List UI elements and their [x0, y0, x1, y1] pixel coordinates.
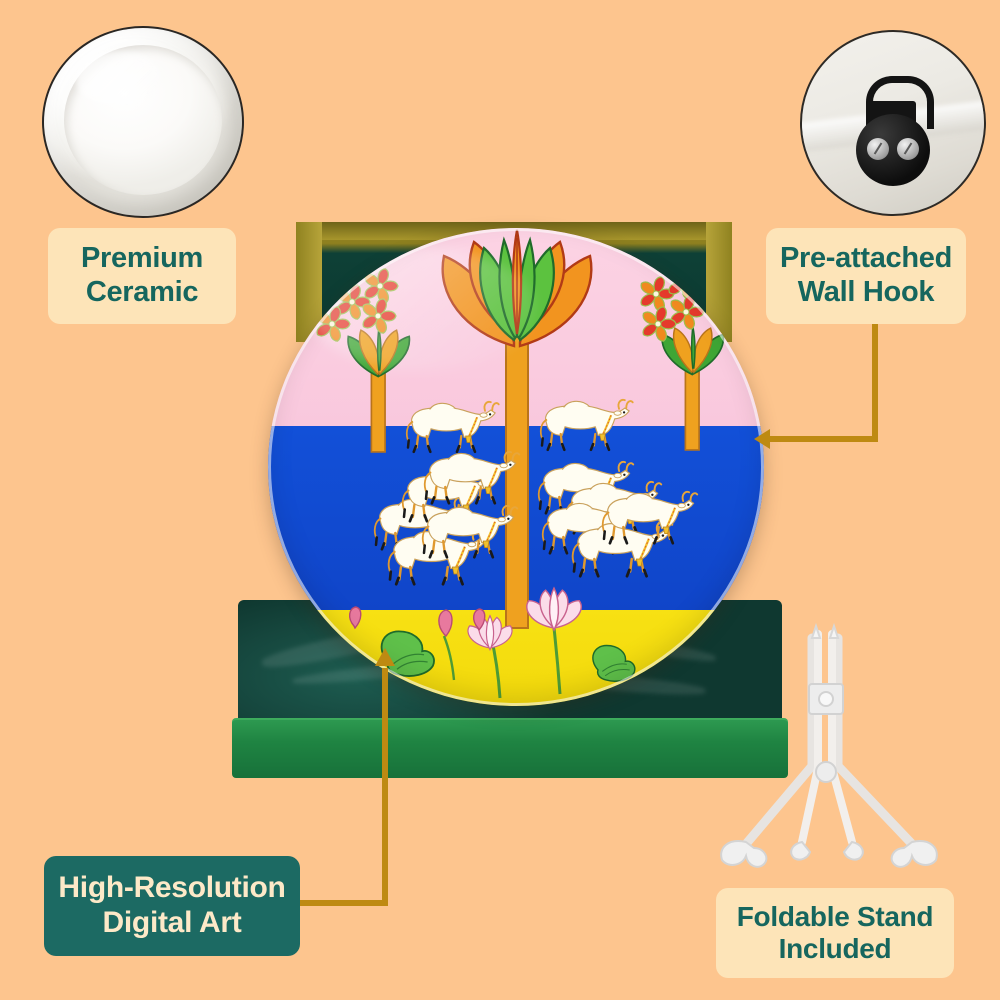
lotus-pond [326, 588, 635, 698]
cow-pink-left [407, 402, 499, 452]
callout-foldable-stand-included[interactable]: Foldable Stand Included [716, 888, 954, 978]
box-front-rim [232, 720, 788, 778]
decorative-wall-plate [268, 228, 764, 706]
foldable-stand-photo [706, 616, 958, 874]
connector-line-art-horizontal [296, 900, 388, 906]
plate-gloss [76, 51, 163, 107]
infographic-canvas: Premium Ceramic Pre-attached Wall Hook H… [0, 0, 1000, 1000]
callout-line-2: Wall Hook [798, 276, 934, 310]
callout-line-1: Pre-attached [780, 242, 952, 276]
screw-icon-right [897, 138, 919, 160]
acrylic-easel-icon [706, 616, 958, 874]
white-plate-icon [42, 26, 244, 218]
cow-herd-right [539, 462, 697, 576]
screw-icon-left [867, 138, 889, 160]
connector-arrow-hook [754, 429, 770, 449]
callout-pre-attached-wall-hook[interactable]: Pre-attached Wall Hook [766, 228, 966, 324]
callout-high-resolution-digital-art[interactable]: High-Resolution Digital Art [44, 856, 300, 956]
pichwai-artwork [268, 228, 764, 706]
connector-line-hook-horizontal [768, 436, 878, 442]
premium-ceramic-photo [42, 26, 244, 218]
banana-tree-left [348, 328, 409, 452]
callout-line-2: Included [779, 933, 892, 965]
banana-tree-right [662, 326, 723, 450]
connector-arrow-art [375, 648, 395, 666]
callout-premium-ceramic[interactable]: Premium Ceramic [48, 228, 236, 324]
hook-photo-disc [800, 30, 986, 216]
callout-line-2: Ceramic [86, 276, 198, 310]
connector-line-art-vertical [382, 668, 388, 906]
rosette-cluster-left [315, 267, 398, 342]
cow-herd-left [375, 452, 519, 584]
callout-line-1: Premium [81, 242, 203, 276]
connector-line-hook-vertical [872, 324, 878, 440]
wall-hook-photo [800, 30, 986, 216]
callout-line-1: High-Resolution [58, 871, 285, 906]
callout-line-1: Foldable Stand [737, 901, 933, 933]
callout-line-2: Digital Art [103, 906, 242, 941]
cow-pink-right [541, 400, 633, 450]
